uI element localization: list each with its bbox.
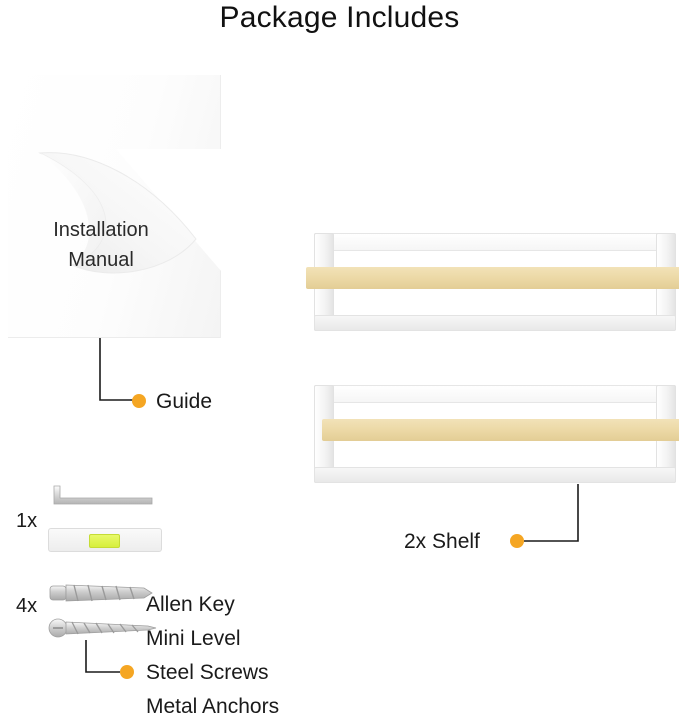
shelf-illustration-top <box>314 233 676 331</box>
shelf-bottom-rail <box>314 467 676 483</box>
shelf-bottom-rail <box>314 315 676 331</box>
callout-label-guide: Guide <box>156 390 212 414</box>
metal-anchor-icon <box>48 580 160 606</box>
shelf-top-rail <box>314 233 676 251</box>
callout-dot-parts <box>120 665 134 679</box>
callout-dot-guide <box>132 394 146 408</box>
shelf-illustration-bottom <box>314 385 676 483</box>
shelf-wood-rail <box>322 419 679 441</box>
callout-dot-shelf <box>510 534 524 548</box>
mini-level-icon <box>48 528 162 552</box>
allen-key-icon <box>48 484 158 510</box>
callout-label-shelf: 2x Shelf <box>404 530 480 554</box>
quantity-1x: 1x <box>16 510 37 533</box>
shelf-wood-rail <box>306 267 679 289</box>
manual-title-text: Installation Manual <box>8 215 194 275</box>
steel-screw-icon <box>48 616 160 640</box>
page-title: Package Includes <box>0 0 679 36</box>
level-vial <box>89 534 120 548</box>
diagram-canvas: Package Includes Installation Manual <box>0 0 679 717</box>
quantity-4x: 4x <box>16 595 37 618</box>
installation-manual-illustration: Installation Manual <box>8 75 220 337</box>
parts-name-list: Allen Key Mini Level Steel Screws Metal … <box>146 588 279 724</box>
shelf-top-rail <box>314 385 676 403</box>
